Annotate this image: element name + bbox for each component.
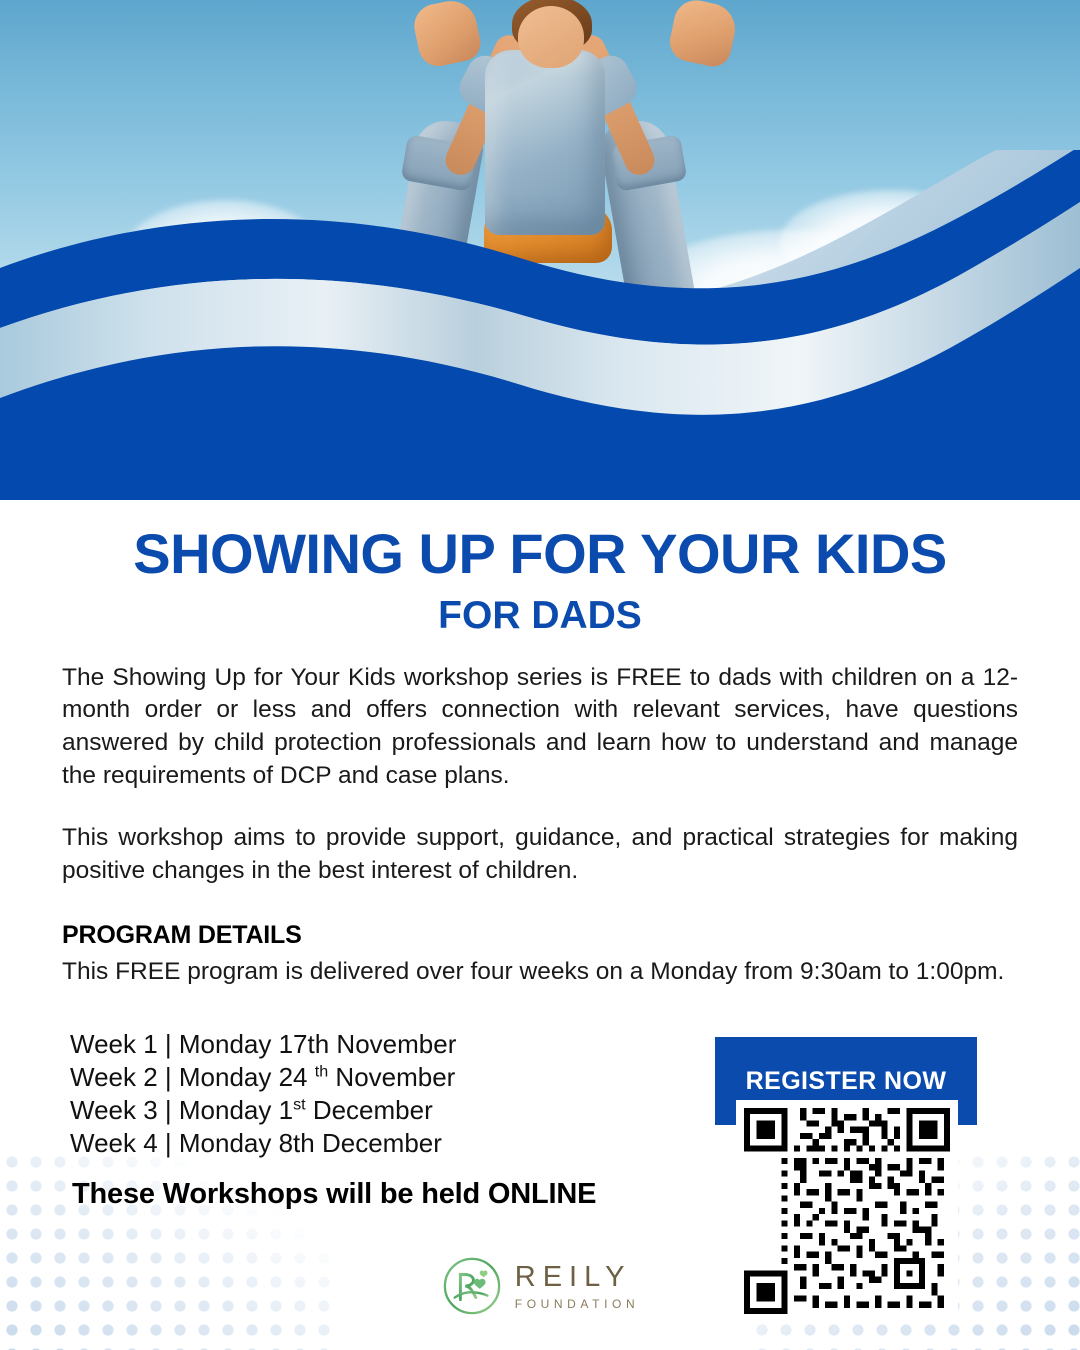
week-schedule-list: Week 1 | Monday 17th November Week 2 | M… [70, 1028, 456, 1160]
week-item-4-text: Week 4 | Monday 8th December [70, 1128, 442, 1158]
page-title: SHOWING UP FOR YOUR KIDS [0, 525, 1080, 584]
register-now-label: REGISTER NOW [746, 1067, 947, 1096]
week-item-2: Week 2 | Monday 24 th November [70, 1061, 456, 1094]
flyer-page: SHOWING UP FOR YOUR KIDS FOR DADS The Sh… [0, 0, 1080, 1350]
reily-circle-r-heart-icon [441, 1255, 503, 1317]
page-subtitle: FOR DADS [0, 594, 1080, 638]
intro-paragraph-2: This workshop aims to provide support, g… [62, 822, 1018, 887]
clasped-hands-right [666, 0, 740, 70]
reily-foundation-logo: REILY FOUNDATION [0, 1255, 1080, 1317]
program-description-block: This FREE program is delivered over four… [0, 956, 1080, 989]
intro-text-block: The Showing Up for Your Kids workshop se… [0, 662, 1080, 887]
intro-paragraph-1: The Showing Up for Your Kids workshop se… [62, 662, 1018, 792]
logo-wordmark: REILY FOUNDATION [515, 1263, 639, 1310]
program-description: This FREE program is delivered over four… [62, 956, 1018, 989]
register-block[interactable]: REGISTER NOW [715, 1037, 977, 1125]
week-item-2-prefix: Week 2 | Monday 24 [70, 1062, 315, 1092]
logo-name: REILY [515, 1263, 639, 1292]
child-head [518, 6, 584, 68]
week-item-3: Week 3 | Monday 1st December [70, 1094, 456, 1127]
week-item-3-prefix: Week 3 | Monday 1 [70, 1095, 293, 1125]
program-details-heading: PROGRAM DETAILS [0, 921, 1080, 950]
paragraph-spacer [62, 792, 1018, 822]
week-item-2-ordinal: th [315, 1062, 328, 1080]
content-area: SHOWING UP FOR YOUR KIDS FOR DADS The Sh… [0, 500, 1080, 989]
hero-photo [0, 0, 1080, 500]
logo-subtitle: FOUNDATION [515, 1298, 639, 1310]
week-item-2-suffix: November [328, 1062, 455, 1092]
wave-divider-graphic [0, 150, 1080, 500]
week-item-3-ordinal: st [293, 1095, 306, 1113]
week-item-4: Week 4 | Monday 8th December [70, 1127, 456, 1160]
online-note: These Workshops will be held ONLINE [72, 1178, 596, 1211]
week-item-1-text: Week 1 | Monday 17th November [70, 1029, 456, 1059]
section-spacer [0, 887, 1080, 921]
week-item-3-suffix: December [306, 1095, 433, 1125]
week-item-1: Week 1 | Monday 17th November [70, 1028, 456, 1061]
